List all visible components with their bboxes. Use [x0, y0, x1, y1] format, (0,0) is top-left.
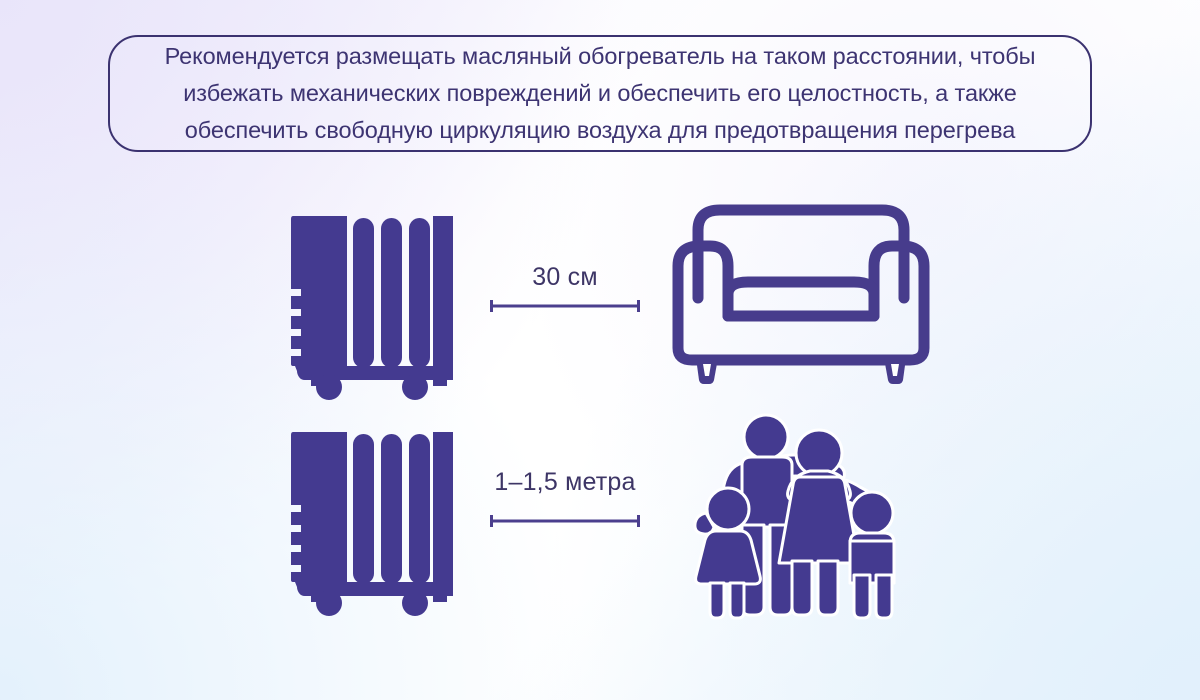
- oil-heater-graphic: [285, 208, 455, 393]
- family-graphic: [692, 415, 914, 625]
- callout-bubble: Рекомендуется размещать масляный обогрев…: [108, 35, 1092, 152]
- dimension-line-sofa: [489, 297, 641, 315]
- family-icon: [692, 415, 914, 625]
- infographic-canvas: Рекомендуется размещать масляный обогрев…: [0, 0, 1200, 700]
- sofa-graphic: [672, 198, 930, 373]
- distance-label-sofa: 30 см: [491, 263, 639, 292]
- distance-label-family: 1–1,5 метра: [480, 468, 650, 497]
- sofa-icon: [672, 198, 930, 373]
- oil-heater-icon: [285, 424, 455, 609]
- callout-text: Рекомендуется размещать масляный обогрев…: [130, 38, 1070, 149]
- dimension-line-family: [489, 512, 641, 530]
- oil-heater-icon: [285, 208, 455, 393]
- oil-heater-graphic: [285, 424, 455, 609]
